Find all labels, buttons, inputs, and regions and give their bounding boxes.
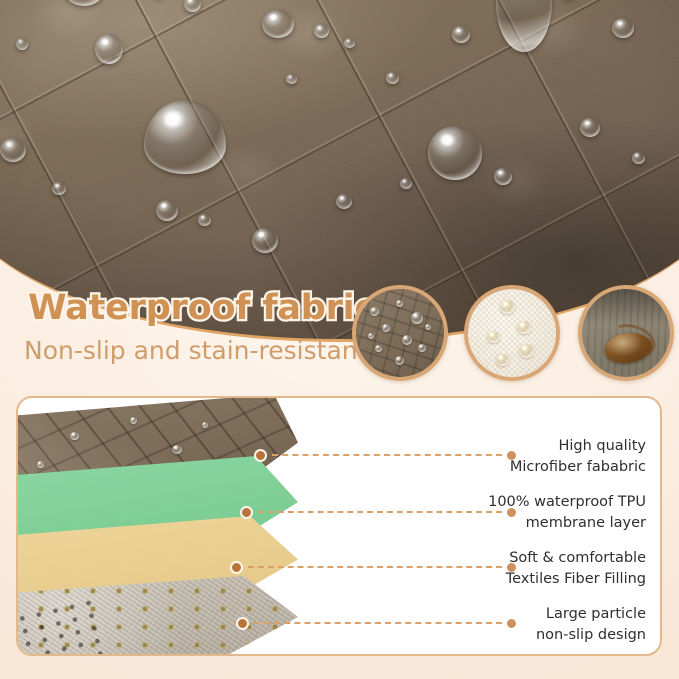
waterproof-fabric-infographic: Waterproof fabric Non-slip and stain-res… [0,0,679,679]
water-droplet [368,333,374,339]
callout-line: Textiles Fiber Filling [434,569,646,590]
water-beading-on-white-mesh-inset [464,285,560,381]
water-droplet [411,312,423,324]
callout-line: Microfiber fababric [434,457,646,478]
water-droplet [496,354,509,366]
spill-shadow [582,289,670,324]
water-droplet [402,335,412,345]
connector-ring-marker [254,449,267,462]
water-droplet [519,344,534,358]
water-droplet [37,461,44,468]
coffee-spill-resistance-inset [578,285,674,381]
layer-structure-card: High quality Microfiber fababric 100% wa… [16,396,662,656]
inset-2-media [468,289,556,377]
water-droplet [418,344,426,352]
page-title: Waterproof fabric [28,288,375,328]
connector-ring-marker [240,506,253,519]
callout-line: non-slip design [434,625,646,646]
water-droplet [382,324,390,332]
water-droplet [395,356,404,365]
callout-line: membrane layer [434,513,646,534]
coffee-spill-stain [605,333,653,363]
connector-ring-marker [230,561,243,574]
water-droplet [487,331,500,343]
callout-top-microfiber: High quality Microfiber fababric [434,436,646,477]
connector-ring-marker [236,617,249,630]
callout-non-slip: Large particle non-slip design [434,604,646,645]
inset-1-media [356,289,444,377]
page-subtitle: Non-slip and stain-resistant [24,336,367,365]
water-droplet [130,417,137,424]
water-droplet [375,345,382,352]
callout-line: Large particle [434,604,646,625]
inset-3-media [582,289,670,377]
water-droplet [500,300,515,314]
feature-inset-row [352,285,679,383]
water-droplet [425,324,431,330]
callout-line: Soft & comfortable [434,548,646,569]
water-droplet [370,307,379,316]
callout-fiber-filling: Soft & comfortable Textiles Fiber Fillin… [434,548,646,589]
callout-line: 100% waterproof TPU [434,492,646,513]
callout-tpu-membrane: 100% waterproof TPU membrane layer [434,492,646,533]
water-droplet [517,321,531,334]
headline-band: Waterproof fabric Non-slip and stain-res… [0,286,348,384]
callout-line: High quality [434,436,646,457]
water-beading-on-brown-fabric-inset [352,285,448,381]
water-droplet [396,300,403,307]
